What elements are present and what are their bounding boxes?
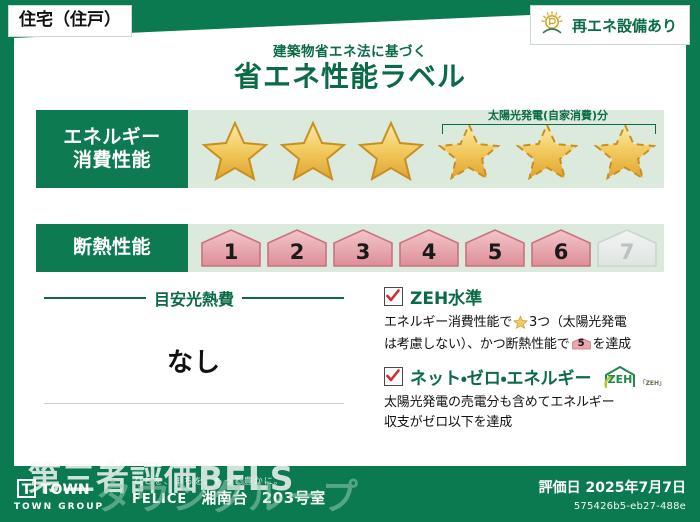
star-rating (188, 117, 664, 181)
criterion-net-zero-description: 太陽光発電の売電分も含めてエネルギー 収支がゼロ以下を達成 (384, 393, 674, 431)
netzero-desc-line1: 太陽光発電の売電分も含めてエネルギー (384, 395, 614, 410)
property-brand: FELICE (132, 492, 187, 507)
insulation-label-text: 断熱性能 (73, 236, 151, 259)
footer-property-info: ひとを、まちを、もっと豊かに。 FELICE 湘南台 203号室 (118, 466, 524, 522)
property-room: 203号室 (262, 487, 326, 508)
criterion-zeh-level-label: ZEH水準 (410, 284, 482, 309)
evaluation-id: 575426b5-eb27-488e (574, 501, 686, 512)
label-footer: T TOWN TOWN GROUP ひとを、まちを、もっと豊かに。 FELICE… (0, 466, 700, 522)
zeh-desc-part1: エネルギー消費性能で (384, 315, 512, 330)
rule-right (242, 297, 344, 299)
company-logo: T TOWN TOWN GROUP (0, 466, 118, 522)
insulation-level-house: 3 (332, 228, 394, 268)
renewable-badge-label: 再エネ設備あり (572, 15, 677, 36)
criterion-zeh-level-title: ZEH水準 (384, 284, 674, 309)
insulation-level-number: 6 (554, 240, 569, 264)
renewable-equipment-badge: 再エネ設備あり (530, 5, 690, 45)
property-identification: FELICE 湘南台 203号室 (132, 487, 326, 508)
housing-type-tag: 住宅（住戸） (8, 5, 132, 37)
insulation-level-scale: 1 2 3 4 (188, 228, 658, 268)
company-name: TOWN GROUP (14, 502, 104, 512)
insulation-level-number: 4 (422, 240, 437, 264)
zeh-desc-part3: は考慮しない）、かつ断熱性能で (384, 337, 570, 352)
criterion-zeh-level: ZEH水準 エネルギー消費性能で 3つ（太陽光発電 は考慮しない）、かつ断熱性能… (384, 284, 674, 354)
star-icon (200, 117, 272, 181)
utility-cost-heading: 目安光熱費 (44, 286, 344, 310)
star-icon (513, 318, 528, 333)
insulation-performance-label-box: 断熱性能 (36, 224, 188, 272)
utility-cost-block: 目安光熱費 なし (44, 286, 344, 404)
criteria-block: ZEH水準 エネルギー消費性能で 3つ（太陽光発電 は考慮しない）、かつ断熱性能… (384, 284, 674, 442)
insulation-level-house: 1 (200, 228, 262, 268)
insulation-level-inline-icon: 5 (572, 336, 591, 351)
zeh-desc-part2: 3つ（太陽光発電 (529, 315, 627, 330)
star-icon-solar (512, 117, 584, 181)
utility-cost-heading-text: 目安光熱費 (154, 286, 234, 310)
label-heading: 建築物省エネ法に基づく 省エネ性能ラベル (0, 40, 700, 93)
evaluation-date-value: 2025年7月7日 (586, 480, 686, 496)
rule-left (44, 297, 146, 299)
star-icon-solar (434, 117, 506, 181)
inline-house-number: 5 (572, 337, 591, 352)
insulation-level-house: 4 (398, 228, 460, 268)
check-icon (384, 287, 403, 306)
zeh-desc-part4: を達成 (593, 337, 631, 352)
svg-text:ZEH: ZEH (607, 373, 632, 386)
footer-evaluation-info: 評価日 2025年7月7日 575426b5-eb27-488e (524, 466, 700, 522)
insulation-level-house: 6 (530, 228, 592, 268)
criterion-net-zero-energy: ネット・ゼロ・エネルギー ZEH 「ZEH」 太陽光発電の売電分も含めてエネルギ… (384, 364, 674, 431)
criterion-net-zero-title: ネット・ゼロ・エネルギー ZEH 「ZEH」 (384, 364, 674, 389)
heading-title: 省エネ性能ラベル (0, 62, 700, 93)
solar-sun-icon (539, 10, 565, 40)
utility-cost-underline (44, 403, 344, 404)
zeh-logo-caption: 「ZEH」 (640, 378, 665, 387)
evaluation-date: 評価日 2025年7月7日 (539, 477, 686, 497)
evaluation-date-label: 評価日 (539, 480, 581, 496)
star-icon (278, 117, 350, 181)
energy-label-line2: 消費性能 (73, 149, 151, 172)
town-group-mark-icon: T TOWN (17, 477, 101, 499)
insulation-level-house: 2 (266, 228, 328, 268)
energy-performance-label-box: エネルギー 消費性能 (36, 110, 188, 188)
energy-label-line1: エネルギー (63, 126, 161, 149)
star-icon (356, 117, 428, 181)
energy-performance-label: 住宅（住戸） 再エネ設備あり 建築物省エネ法に基づく (0, 0, 700, 522)
insulation-level-number: 5 (488, 240, 503, 264)
insulation-level-number: 1 (224, 240, 239, 264)
insulation-level-number: 2 (290, 240, 305, 264)
insulation-scale-area: 1 2 3 4 (188, 224, 664, 272)
netzero-desc-line2: 収支がゼロ以下を達成 (384, 415, 512, 430)
criterion-net-zero-label: ネット・ゼロ・エネルギー (410, 364, 592, 389)
svg-text:TOWN: TOWN (41, 482, 90, 498)
property-name: 湘南台 (201, 487, 248, 508)
insulation-level-house-inactive: 7 (596, 228, 658, 268)
zeh-logo: ZEH 「ZEH」 (602, 365, 665, 389)
insulation-performance-row: 断熱性能 1 (36, 224, 664, 272)
energy-performance-stars-area: 太陽光発電(自家消費)分 (188, 110, 664, 188)
insulation-level-house: 5 (464, 228, 526, 268)
insulation-level-number: 7 (620, 240, 635, 264)
utility-cost-value: なし (44, 342, 344, 379)
insulation-level-number: 3 (356, 240, 371, 264)
check-icon (384, 367, 403, 386)
energy-performance-row: エネルギー 消費性能 (36, 110, 664, 188)
criterion-zeh-level-description: エネルギー消費性能で 3つ（太陽光発電 は考慮しない）、かつ断熱性能で 5 を達… (384, 313, 674, 354)
company-tagline: ひとを、まちを、もっと豊かに。 (134, 474, 284, 487)
star-icon-solar (590, 117, 662, 181)
svg-text:T: T (22, 482, 32, 498)
